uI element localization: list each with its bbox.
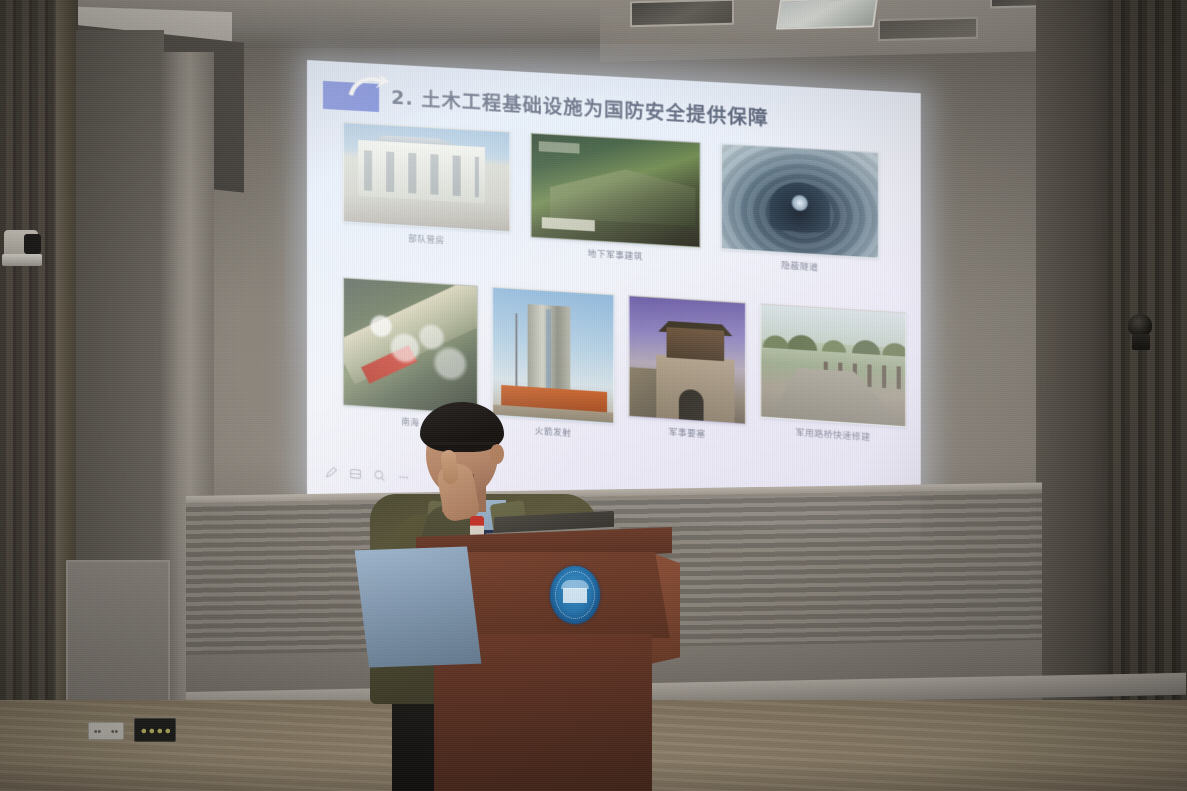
av-connector-panel[interactable] — [134, 718, 176, 742]
underground-label-top — [539, 141, 580, 153]
slides-grid-icon[interactable] — [349, 467, 362, 481]
lecture-hall-scene: 2. 土木工程基础设施为国防安全提供保障 部队营房 — [0, 0, 1187, 791]
wall-outlet[interactable] — [88, 722, 124, 740]
island-clouds — [344, 278, 477, 413]
photo-south-sea-island[interactable] — [343, 277, 478, 414]
slide-title: 2. 土木工程基础设施为国防安全提供保障 — [391, 83, 769, 131]
photo-cell-roadbridge[interactable]: 军用路桥快速修建 — [760, 303, 906, 445]
podium — [398, 530, 688, 791]
photo-cell-fortress[interactable]: 军事要塞 — [629, 295, 746, 443]
photo-underground-military[interactable] — [531, 133, 701, 248]
rocket-mast — [515, 313, 517, 386]
speaker-glasses — [430, 442, 496, 445]
camera-right-dome — [1128, 314, 1152, 336]
photo-barracks[interactable] — [343, 122, 510, 232]
photo-tunnel[interactable] — [721, 143, 879, 258]
rocket-tower-gap — [546, 309, 551, 388]
barracks-windows — [364, 150, 479, 197]
underground-label-bottom — [542, 217, 595, 231]
photo-military-road-bridge[interactable] — [760, 303, 906, 427]
speaker-ear — [490, 444, 504, 464]
photo-caption: 隐蔽隧道 — [781, 259, 818, 274]
ceiling-panel-1 — [630, 0, 734, 27]
tunnel-light — [791, 194, 808, 211]
ceiling-panel-2 — [776, 0, 878, 30]
right-wall-dark-section — [1036, 0, 1112, 791]
camera-left-icon — [4, 230, 44, 272]
photo-caption: 军用路桥快速修建 — [796, 426, 871, 443]
photo-row-top: 部队营房 地下军事建筑 隐蔽隧道 — [343, 122, 896, 278]
photo-cell-barracks[interactable]: 部队营房 — [343, 122, 510, 250]
curved-arrow-icon — [347, 70, 391, 101]
emblem-building — [563, 588, 587, 603]
camera-right-stem — [1132, 334, 1150, 350]
presentation-documents[interactable] — [355, 546, 482, 667]
photo-military-fortress[interactable] — [629, 295, 746, 424]
camera-left-mount — [2, 254, 42, 266]
photo-caption: 军事要塞 — [669, 426, 706, 441]
camera-right-icon — [1128, 314, 1154, 354]
pen-icon[interactable] — [325, 465, 338, 479]
fortress-tower — [667, 327, 725, 361]
photo-cell-underground[interactable]: 地下军事建筑 — [531, 133, 701, 267]
photo-cell-tunnel[interactable]: 隐蔽隧道 — [721, 143, 879, 277]
university-emblem-icon — [550, 566, 600, 624]
underground-slope — [550, 165, 695, 226]
camera-left-lens — [24, 234, 41, 254]
photo-caption: 部队营房 — [408, 232, 444, 246]
ceiling-vent-1 — [878, 17, 978, 41]
photo-caption: 地下军事建筑 — [588, 247, 643, 263]
left-wood-paneling — [0, 0, 58, 700]
fortress-gate — [679, 389, 704, 423]
